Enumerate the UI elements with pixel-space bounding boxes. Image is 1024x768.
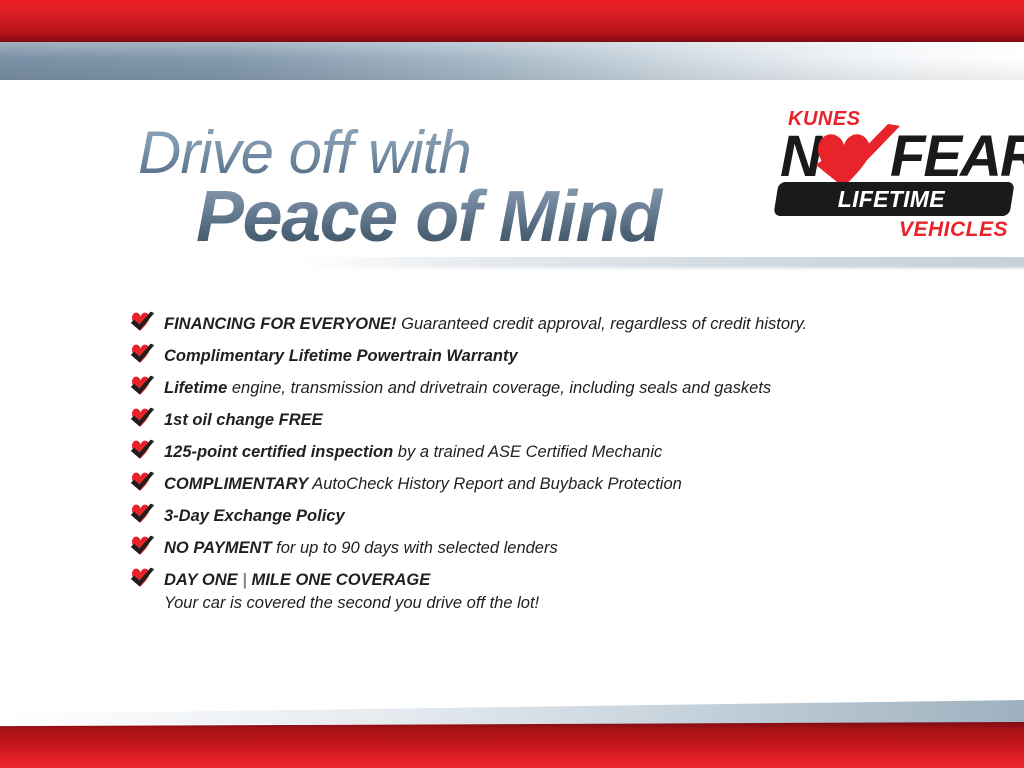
logo-word-fear: FEAR — [890, 128, 1024, 186]
heart-check-icon — [130, 535, 155, 556]
list-item-text: DAY ONE | MILE ONE COVERAGE — [164, 571, 430, 589]
bottom-gray-band — [0, 700, 1024, 724]
list-item: FINANCING FOR EVERYONE! Guaranteed credi… — [130, 308, 950, 340]
heart-check-icon — [130, 343, 155, 364]
list-item: 3-Day Exchange Policy — [130, 500, 950, 532]
list-item: Lifetime engine, transmission and drivet… — [130, 372, 950, 404]
heart-check-icon — [130, 503, 155, 524]
list-item-text: Complimentary Lifetime Powertrain Warran… — [164, 347, 518, 365]
list-item-bold: COMPLIMENTARY — [164, 475, 308, 493]
list-item-text: NO PAYMENT for up to 90 days with select… — [164, 539, 558, 557]
list-item: Complimentary Lifetime Powertrain Warran… — [130, 340, 950, 372]
list-item-text: 3-Day Exchange Policy — [164, 507, 345, 525]
list-item: NO PAYMENT for up to 90 days with select… — [130, 532, 950, 564]
headline-line-2: Peace of Mind — [138, 178, 758, 256]
list-item: COMPLIMENTARY AutoCheck History Report a… — [130, 468, 950, 500]
list-item-bold: 125-point certified inspection — [164, 443, 393, 461]
list-item-bold: 1st oil change FREE — [164, 411, 323, 429]
heart-check-icon — [130, 567, 155, 588]
top-gray-band — [0, 42, 1024, 80]
list-item-bold: Complimentary Lifetime Powertrain Warran… — [164, 347, 518, 365]
logo-vehicles-text: VEHICLES — [899, 218, 1008, 242]
top-red-band — [0, 0, 1024, 42]
list-item-bold: 3-Day Exchange Policy — [164, 507, 345, 525]
list-item-rest: engine, transmission and drivetrain cove… — [227, 379, 771, 397]
headline-divider — [300, 257, 1024, 270]
headline-line-1: Drive off with — [138, 122, 758, 184]
list-item-separator: | — [238, 571, 252, 589]
list-item-rest: Guaranteed credit approval, regardless o… — [397, 315, 808, 333]
list-item-text: 125-point certified inspection by a trai… — [164, 443, 662, 461]
list-item-text: COMPLIMENTARY AutoCheck History Report a… — [164, 475, 682, 493]
list-item: 1st oil change FREE — [130, 404, 950, 436]
list-item-text: 1st oil change FREE — [164, 411, 323, 429]
list-item-bold-2: MILE ONE COVERAGE — [251, 571, 430, 589]
list-item-text: Lifetime engine, transmission and drivet… — [164, 379, 771, 397]
bottom-red-band — [0, 722, 1024, 768]
benefits-list: FINANCING FOR EVERYONE! Guaranteed credi… — [130, 308, 950, 618]
list-item-rest: AutoCheck History Report and Buyback Pro… — [308, 475, 682, 493]
list-item-bold: Lifetime — [164, 379, 227, 397]
list-item-bold: NO PAYMENT — [164, 539, 272, 557]
list-item-rest: by a trained ASE Certified Mechanic — [393, 443, 662, 461]
list-item: DAY ONE | MILE ONE COVERAGE — [130, 564, 950, 596]
list-item: 125-point certified inspection by a trai… — [130, 436, 950, 468]
heart-check-icon — [130, 471, 155, 492]
list-item-bold: FINANCING FOR EVERYONE! — [164, 315, 397, 333]
page-title: Drive off with Peace of Mind — [138, 122, 758, 256]
heart-check-icon — [130, 311, 155, 332]
kunes-no-fear-logo: KUNES N FEAR LIFETIME CERTIFIED VEHICLES — [772, 108, 1014, 248]
list-item-text: FINANCING FOR EVERYONE! Guaranteed credi… — [164, 315, 807, 333]
heart-check-icon — [130, 439, 155, 460]
logo-nofear-wordmark: N FEAR — [774, 126, 1014, 188]
heart-check-icon — [130, 407, 155, 428]
list-item-rest: for up to 90 days with selected lenders — [272, 539, 558, 557]
logo-lifetime-certified-bar: LIFETIME CERTIFIED — [773, 182, 1014, 216]
list-item-bold: DAY ONE — [164, 571, 238, 589]
heart-check-icon — [130, 375, 155, 396]
